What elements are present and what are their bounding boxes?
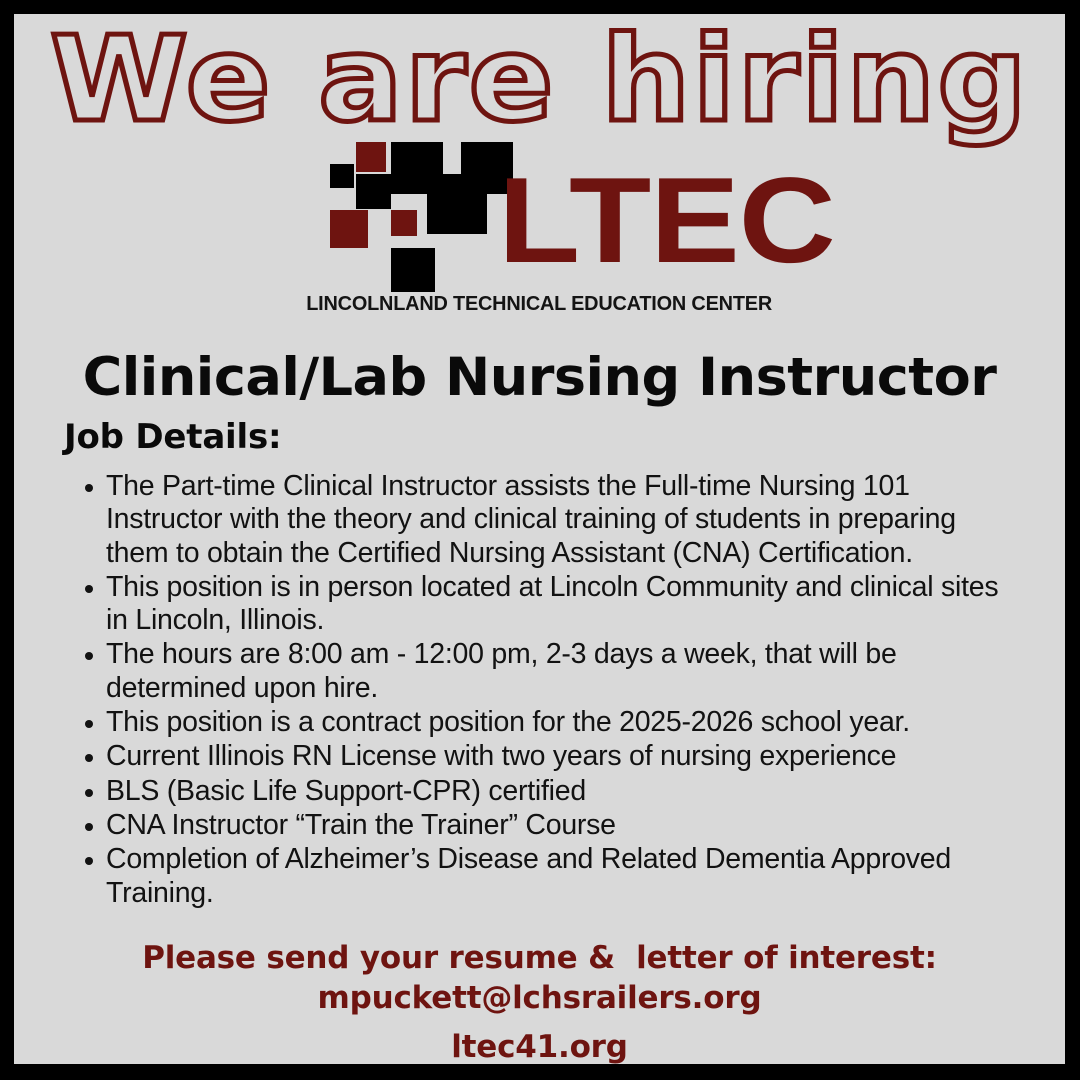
- logo-wordmark: LTEC: [498, 160, 835, 282]
- list-item: The Part-time Clinical Instructor assist…: [66, 470, 1021, 570]
- job-details-heading: Job Details:: [64, 416, 281, 458]
- mosaic-square: [356, 174, 391, 209]
- job-title: Clinical/Lab Nursing Instructor: [14, 347, 1065, 409]
- list-item: This position is a contract position for…: [66, 706, 1021, 739]
- poster-frame: We are hiring LTEC LINCOLNLAND TECHNICAL…: [0, 0, 1080, 1080]
- list-item: This position is in person located at Li…: [66, 571, 1021, 638]
- page-title: We are hiring: [14, 16, 1065, 142]
- job-details-list: The Part-time Clinical Instructor assist…: [66, 470, 1021, 911]
- footer-call-to-action: Please send your resume & letter of inte…: [14, 938, 1065, 978]
- mosaic-square: [330, 210, 368, 248]
- mosaic-square: [391, 248, 435, 292]
- list-item: Current Illinois RN License with two yea…: [66, 740, 1021, 773]
- list-item: The hours are 8:00 am - 12:00 pm, 2-3 da…: [66, 638, 1021, 705]
- mosaic-square: [356, 142, 386, 172]
- footer-website[interactable]: ltec41.org: [14, 1027, 1065, 1064]
- list-item: Completion of Alzheimer’s Disease and Re…: [66, 843, 1021, 910]
- poster-canvas: We are hiring LTEC LINCOLNLAND TECHNICAL…: [14, 14, 1065, 1064]
- footer-contact: Please send your resume & letter of inte…: [14, 938, 1065, 1064]
- ltec-pixel-mosaic-icon: [330, 142, 510, 288]
- footer-email[interactable]: mpuckett@lchsrailers.org: [14, 978, 1065, 1018]
- ltec-logo: LTEC LINCOLNLAND TECHNICAL EDUCATION CEN…: [14, 142, 1065, 316]
- logo-tagline: LINCOLNLAND TECHNICAL EDUCATION CENTER: [307, 292, 773, 316]
- mosaic-square: [330, 164, 354, 188]
- list-item: CNA Instructor “Train the Trainer” Cours…: [66, 809, 1021, 842]
- list-item: BLS (Basic Life Support-CPR) certified: [66, 775, 1021, 808]
- logo-lockup: LTEC: [330, 142, 750, 288]
- mosaic-square: [391, 210, 417, 236]
